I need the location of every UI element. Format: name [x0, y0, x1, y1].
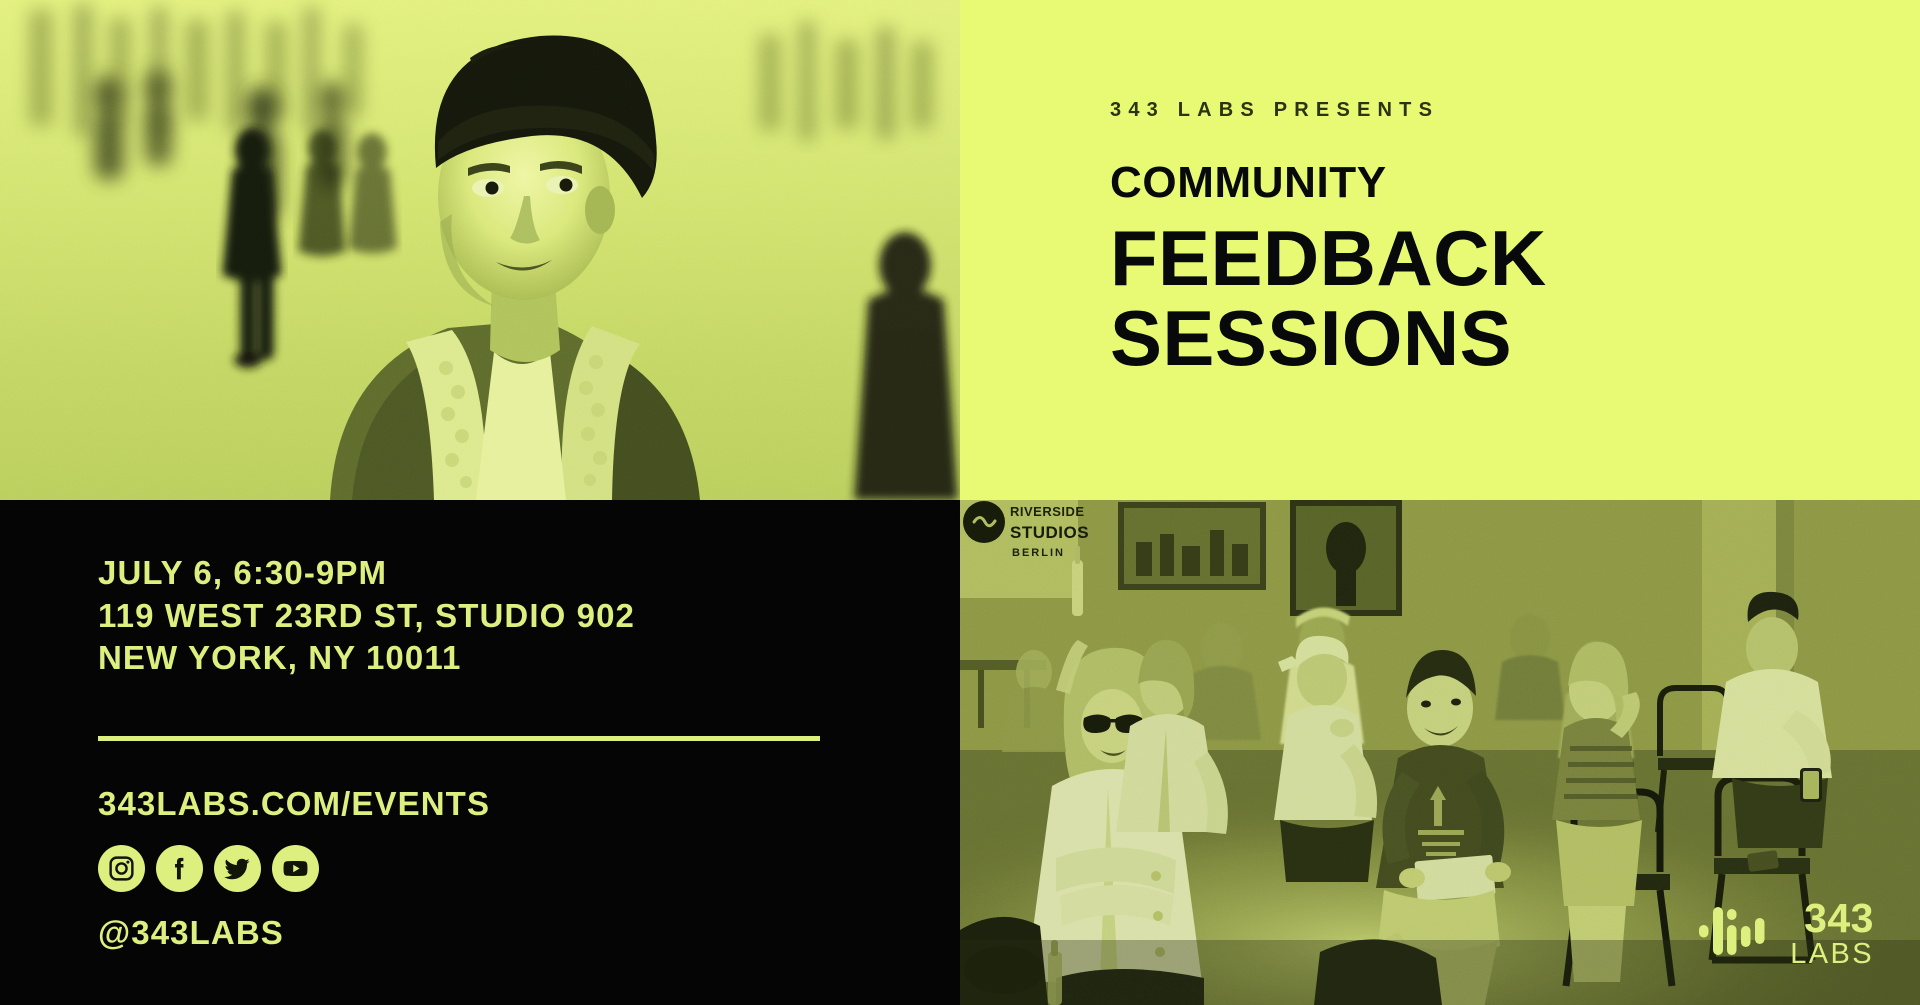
- instagram-icon: [107, 854, 136, 883]
- portrait-photo: [0, 0, 960, 500]
- page-title: FEEDBACK SESSIONS: [1110, 219, 1920, 378]
- event-poster: 343 LABS PRESENTS COMMUNITY FEEDBACK SES…: [0, 0, 1920, 1005]
- social-link-youtube[interactable]: [272, 845, 319, 892]
- group-photo: RIVERSIDE STUDIOS BERLIN: [960, 500, 1920, 1005]
- details-panel: JULY 6, 6:30-9PM 119 WEST 23RD ST, STUDI…: [0, 500, 960, 1005]
- social-links: [98, 845, 920, 892]
- waveform-icon: [1699, 904, 1773, 963]
- social-handle: @343LABS: [98, 916, 920, 949]
- corner-logo: 343 LABS: [1699, 898, 1874, 969]
- youtube-icon: [281, 854, 310, 883]
- logo-wordmark: 343 LABS: [1790, 898, 1874, 969]
- facebook-icon: [165, 854, 194, 883]
- portrait-photo-artwork: [0, 0, 960, 500]
- logo-numerals: 343: [1804, 898, 1874, 939]
- divider: [98, 736, 820, 741]
- social-link-facebook[interactable]: [156, 845, 203, 892]
- headline-panel: 343 LABS PRESENTS COMMUNITY FEEDBACK SES…: [960, 0, 1920, 500]
- twitter-icon: [223, 854, 252, 883]
- event-address-line-2: NEW YORK, NY 10011: [98, 637, 920, 680]
- event-date-time: JULY 6, 6:30-9PM: [98, 552, 920, 595]
- social-link-twitter[interactable]: [214, 845, 261, 892]
- headline-line-2: SESSIONS: [1110, 299, 1920, 379]
- social-link-instagram[interactable]: [98, 845, 145, 892]
- logo-labs-text: LABS: [1790, 940, 1874, 969]
- headline-line-1: FEEDBACK: [1110, 214, 1547, 302]
- event-url[interactable]: 343LABS.COM/EVENTS: [98, 787, 920, 820]
- kicker-text: COMMUNITY: [1110, 161, 1920, 205]
- eyebrow-text: 343 LABS PRESENTS: [1110, 99, 1920, 122]
- event-address-line-1: 119 WEST 23RD ST, STUDIO 902: [98, 595, 920, 638]
